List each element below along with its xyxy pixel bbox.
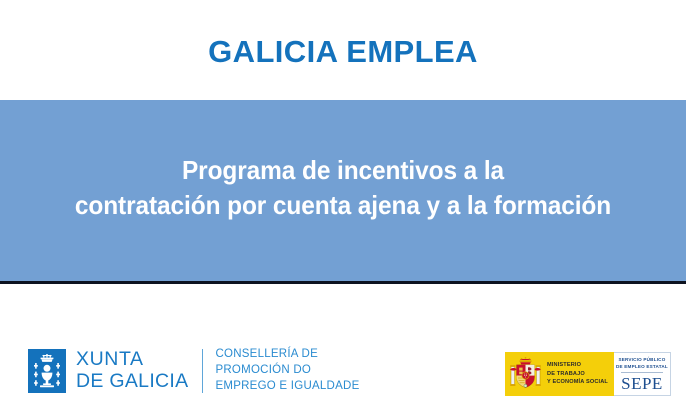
footer-logo-band: XUNTA DE GALICIA CONSELLERÍA DE PROMOCIÓ…	[0, 287, 686, 410]
program-banner-text: Programa de incentivos a la contratación…	[0, 153, 686, 228]
logo-divider	[202, 349, 203, 393]
sepe-acronym: SEPE	[621, 372, 663, 392]
xunta-wordmark-line-2: DE GALICIA	[76, 371, 188, 393]
sepe-logo: SERVICIO PÚBLICO DE EMPLEO ESTATAL SEPE	[614, 352, 671, 396]
program-banner-line-1: Programa de incentivos a la	[21, 153, 666, 187]
sepe-fullname: SERVICIO PÚBLICO DE EMPLEO ESTATAL	[616, 357, 668, 370]
title-zone: GALICIA EMPLEA	[0, 0, 686, 100]
xunta-wordmark: XUNTA DE GALICIA	[76, 349, 188, 393]
sepe-fullname-line-2: DE EMPLEO ESTATAL	[616, 364, 668, 371]
ministerio-line-1: MINISTERIO	[547, 361, 608, 369]
program-banner-line-2: contratación por cuenta ajena y a la for…	[21, 188, 666, 222]
consellería-line-2: PROMOCIÓN DO	[215, 363, 359, 379]
ministerio-line-2: DE TRABAJO	[547, 370, 608, 378]
ministerio-wordmark: MINISTERIO DE TRABAJO Y ECONOMÍA SOCIAL	[547, 361, 608, 386]
consellería-line-1: CONSELLERÍA DE	[215, 347, 359, 363]
poster-canvas: GALICIA EMPLEA Programa de incentivos a …	[0, 0, 686, 410]
galicia-coat-of-arms-icon	[28, 349, 66, 393]
program-banner: Programa de incentivos a la contratación…	[0, 100, 686, 284]
spain-coat-of-arms-icon	[509, 356, 542, 392]
ministerio-line-3: Y ECONOMÍA SOCIAL	[547, 378, 608, 386]
sepe-fullname-line-1: SERVICIO PÚBLICO	[616, 357, 668, 364]
xunta-de-galicia-logo: XUNTA DE GALICIA CONSELLERÍA DE PROMOCIÓ…	[28, 347, 360, 394]
ministerio-de-trabajo-logo: MINISTERIO DE TRABAJO Y ECONOMÍA SOCIAL	[505, 352, 614, 396]
consellería-block: CONSELLERÍA DE PROMOCIÓN DO EMPREGO E IG…	[215, 347, 359, 394]
gobierno-de-espana-logos: MINISTERIO DE TRABAJO Y ECONOMÍA SOCIAL …	[505, 352, 671, 396]
page-title: GALICIA EMPLEA	[208, 36, 478, 67]
xunta-wordmark-line-1: XUNTA	[76, 349, 188, 371]
consellería-line-3: EMPREGO E IGUALDADE	[215, 379, 359, 395]
